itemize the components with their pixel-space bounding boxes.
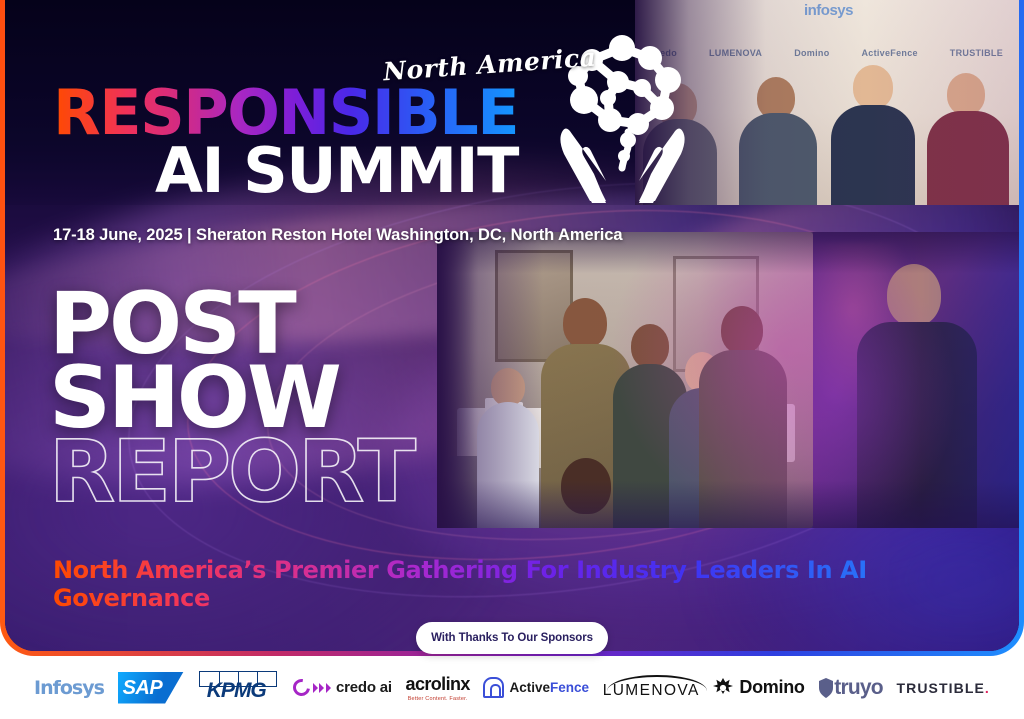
sponsor-logo-acrolinx[interactable]: acrolinx Better Content. Faster. [406,668,470,708]
headline-report: REPORT [49,436,413,510]
sponsor-logo-truyo[interactable]: truyo [818,668,883,708]
audience-applauding-photo [437,232,813,528]
sponsors-badge-label: With Thanks To Our Sponsors [431,632,593,644]
sponsor-logo-sap[interactable]: SAP [118,668,184,708]
event-title-line2: AI SUMMIT [155,140,518,202]
truyo-shield-icon [818,677,834,699]
sponsor-logo-strip: Infosys SAP KPMG credo ai acrolinx Bette… [0,656,1024,719]
sponsor-logo-kpmg[interactable]: KPMG [197,668,279,708]
lumenova-arc-icon [607,675,707,691]
sponsors-badge: With Thanks To Our Sponsors [416,622,608,654]
post-show-report-banner: infosys credoLUMENOVADomino ActiveFenceT… [0,0,1024,719]
sponsor-logo-trustible[interactable]: TRUSTIBLE. [896,668,989,708]
sponsor-logo-domino[interactable]: Domino [713,668,804,708]
gradient-frame: infosys credoLUMENOVADomino ActiveFenceT… [0,0,1024,656]
credo-swirl-icon [290,676,314,700]
sponsor-logo-lumenova[interactable]: LUMENOVA [603,668,700,708]
seated-panelist-photo [813,232,1019,528]
sponsor-logo-activefence[interactable]: ActiveFence [483,668,589,708]
domino-star-icon [713,678,733,698]
sponsor-logo-infosys[interactable]: Infosys [34,668,104,708]
activefence-shield-icon [483,677,504,698]
sponsor-logo-credo-ai[interactable]: credo ai [293,668,392,708]
hero-panel: infosys credoLUMENOVADomino ActiveFenceT… [5,0,1019,651]
event-tagline: North America’s Premier Gathering For In… [53,556,1019,612]
event-dateline: 17-18 June, 2025 | Sheraton Reston Hotel… [53,226,622,245]
